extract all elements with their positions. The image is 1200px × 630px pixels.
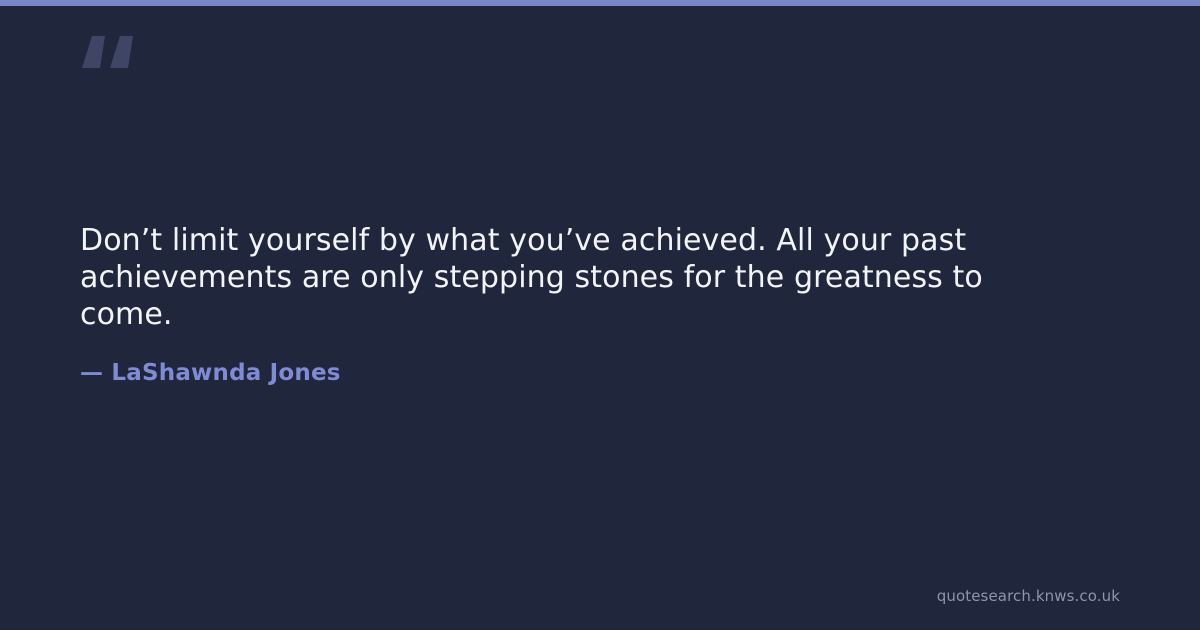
double-left-quotation-mark-icon [78,30,142,86]
source-url-label: quotesearch.knws.co.uk [937,587,1120,605]
quote-content: Don’t limit yourself by what you’ve achi… [80,222,1080,387]
quote-text: Don’t limit yourself by what you’ve achi… [80,222,1040,333]
card-footer: quotesearch.knws.co.uk [937,586,1120,606]
top-accent-bar [0,0,1200,6]
quote-card: Don’t limit yourself by what you’ve achi… [0,0,1200,630]
quote-attribution: — LaShawnda Jones [80,359,1080,387]
